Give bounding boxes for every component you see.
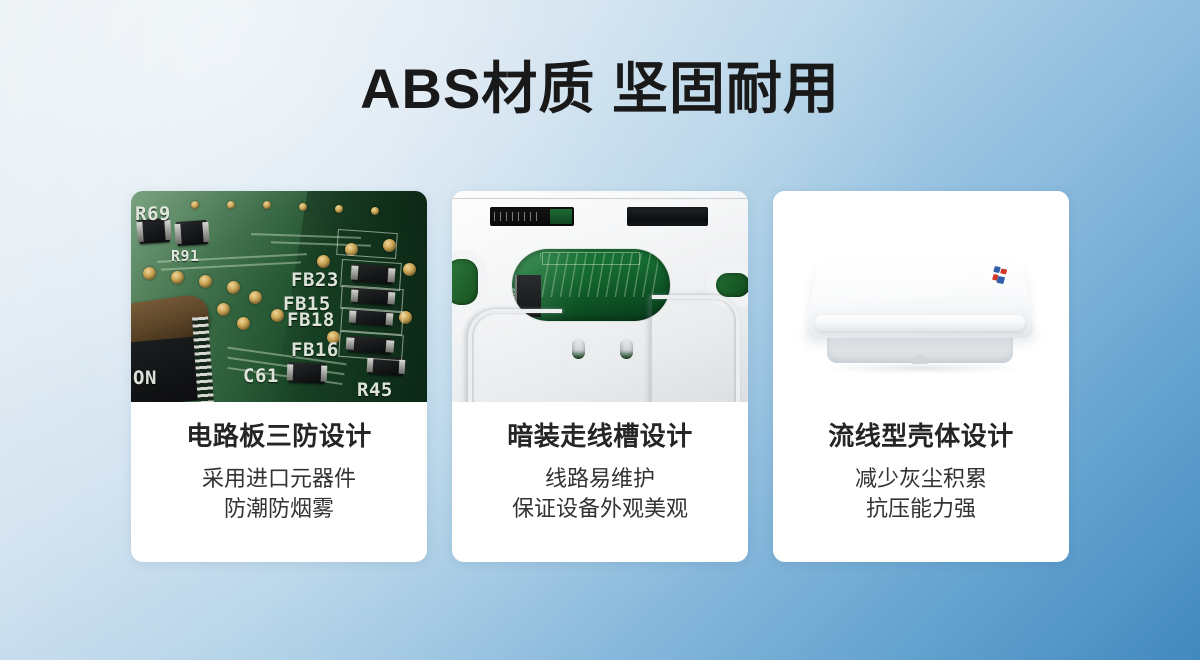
pcb-via-pad <box>191 201 199 209</box>
feature-card[interactable]: 流线型壳体设计 减少灰尘积累 抗压能力强 <box>773 191 1069 562</box>
pcb-closeup-photo: R69 R91 FB23 FB15 FB18 FB16 C61 R45 ON <box>131 191 427 402</box>
housing-mount-hole <box>620 339 633 359</box>
feature-card-body: 流线型壳体设计 减少灰尘积累 抗压能力强 <box>773 402 1069 562</box>
feature-card-line: 线路易维护 <box>462 464 738 494</box>
pcb-via-pad <box>227 281 240 294</box>
pcb-silk-label-fb23: FB23 <box>291 269 339 291</box>
pcb-via-pad <box>171 271 184 284</box>
feature-card-line: 保证设备外观美观 <box>462 494 738 524</box>
product-photo-background <box>773 191 1069 402</box>
feature-card-title: 暗装走线槽设计 <box>462 420 738 452</box>
feature-card-line: 抗压能力强 <box>783 494 1059 524</box>
product-feature-banner: ABS材质 坚固耐用 <box>0 0 1200 660</box>
pcb-header-outline <box>542 252 640 265</box>
cable-channel-right <box>652 295 740 402</box>
pcb-via-pad <box>199 275 212 288</box>
feature-card[interactable]: R69 R91 FB23 FB15 FB18 FB16 C61 R45 ON 电… <box>131 191 427 562</box>
pcb-component <box>289 362 326 383</box>
pcb-silk-label-r69: R69 <box>135 203 171 225</box>
cable-channel-left <box>468 309 562 402</box>
feature-card-line: 减少灰尘积累 <box>783 464 1059 494</box>
device-front-lip <box>815 315 1025 331</box>
page-title: ABS材质 坚固耐用 <box>0 58 1200 120</box>
feature-card-body: 暗装走线槽设计 线路易维护 保证设备外观美观 <box>452 402 748 562</box>
pcb-via-pad <box>403 263 416 276</box>
pcb-silk-label-r45: R45 <box>357 379 393 401</box>
feature-card-title: 电路板三防设计 <box>141 420 417 452</box>
pcb-silk-label-fb18: FB18 <box>287 309 335 331</box>
pcb-silk-label-r91: R91 <box>171 247 200 265</box>
pcb-via-pad <box>249 291 262 304</box>
pcb-via-pad <box>335 205 343 213</box>
feature-card-description: 采用进口元器件 防潮防烟雾 <box>141 464 417 524</box>
pcb-silk-label-on: ON <box>133 367 157 389</box>
feature-card-title: 流线型壳体设计 <box>783 420 1059 452</box>
feature-card-body: 电路板三防设计 采用进口元器件 防潮防烟雾 <box>131 402 427 562</box>
pcb-silk-outline <box>336 229 398 259</box>
feature-card-description: 线路易维护 保证设备外观美观 <box>462 464 738 524</box>
pcb-via-pad <box>299 203 307 211</box>
feature-card-list: R69 R91 FB23 FB15 FB18 FB16 C61 R45 ON 电… <box>131 191 1069 562</box>
pcb-via-pad <box>227 201 235 209</box>
device-housing-backplate: 020 <box>452 191 748 402</box>
feature-card-description: 减少灰尘积累 抗压能力强 <box>783 464 1059 524</box>
cable-channel-photo: 020 <box>452 191 748 402</box>
feature-card[interactable]: 020 暗装走线槽设计 线路易维护 保证设备外观美观 <box>452 191 748 562</box>
pcb-component <box>176 220 208 246</box>
white-enclosure-device <box>811 253 1029 365</box>
pcb-silk-outline <box>338 331 404 361</box>
feature-card-line: 防潮防烟雾 <box>141 494 417 524</box>
housing-side-opening-left <box>452 259 478 305</box>
pcb-via-pad <box>317 255 330 268</box>
pcb-board-surface: R69 R91 FB23 FB15 FB18 FB16 C61 R45 ON <box>131 191 427 402</box>
housing-seam-line <box>452 198 748 199</box>
housing-mount-hole <box>572 339 585 359</box>
pcb-silk-label-fb16: FB16 <box>291 339 339 361</box>
pcb-terminal-marking: 020 <box>512 288 517 299</box>
cable-entry-slot <box>627 207 708 226</box>
pcb-via-pad <box>263 201 271 209</box>
pcb-via-pad <box>217 303 230 316</box>
pcb-via-pad <box>237 317 250 330</box>
housing-side-opening-right <box>716 273 748 297</box>
feature-card-line: 采用进口元器件 <box>141 464 417 494</box>
pcb-via-pad <box>143 267 156 280</box>
pcb-edge-slot <box>490 207 574 226</box>
pcb-silk-label-c61: C61 <box>243 365 279 387</box>
pcb-via-pad <box>371 207 379 215</box>
streamlined-enclosure-photo <box>773 191 1069 402</box>
